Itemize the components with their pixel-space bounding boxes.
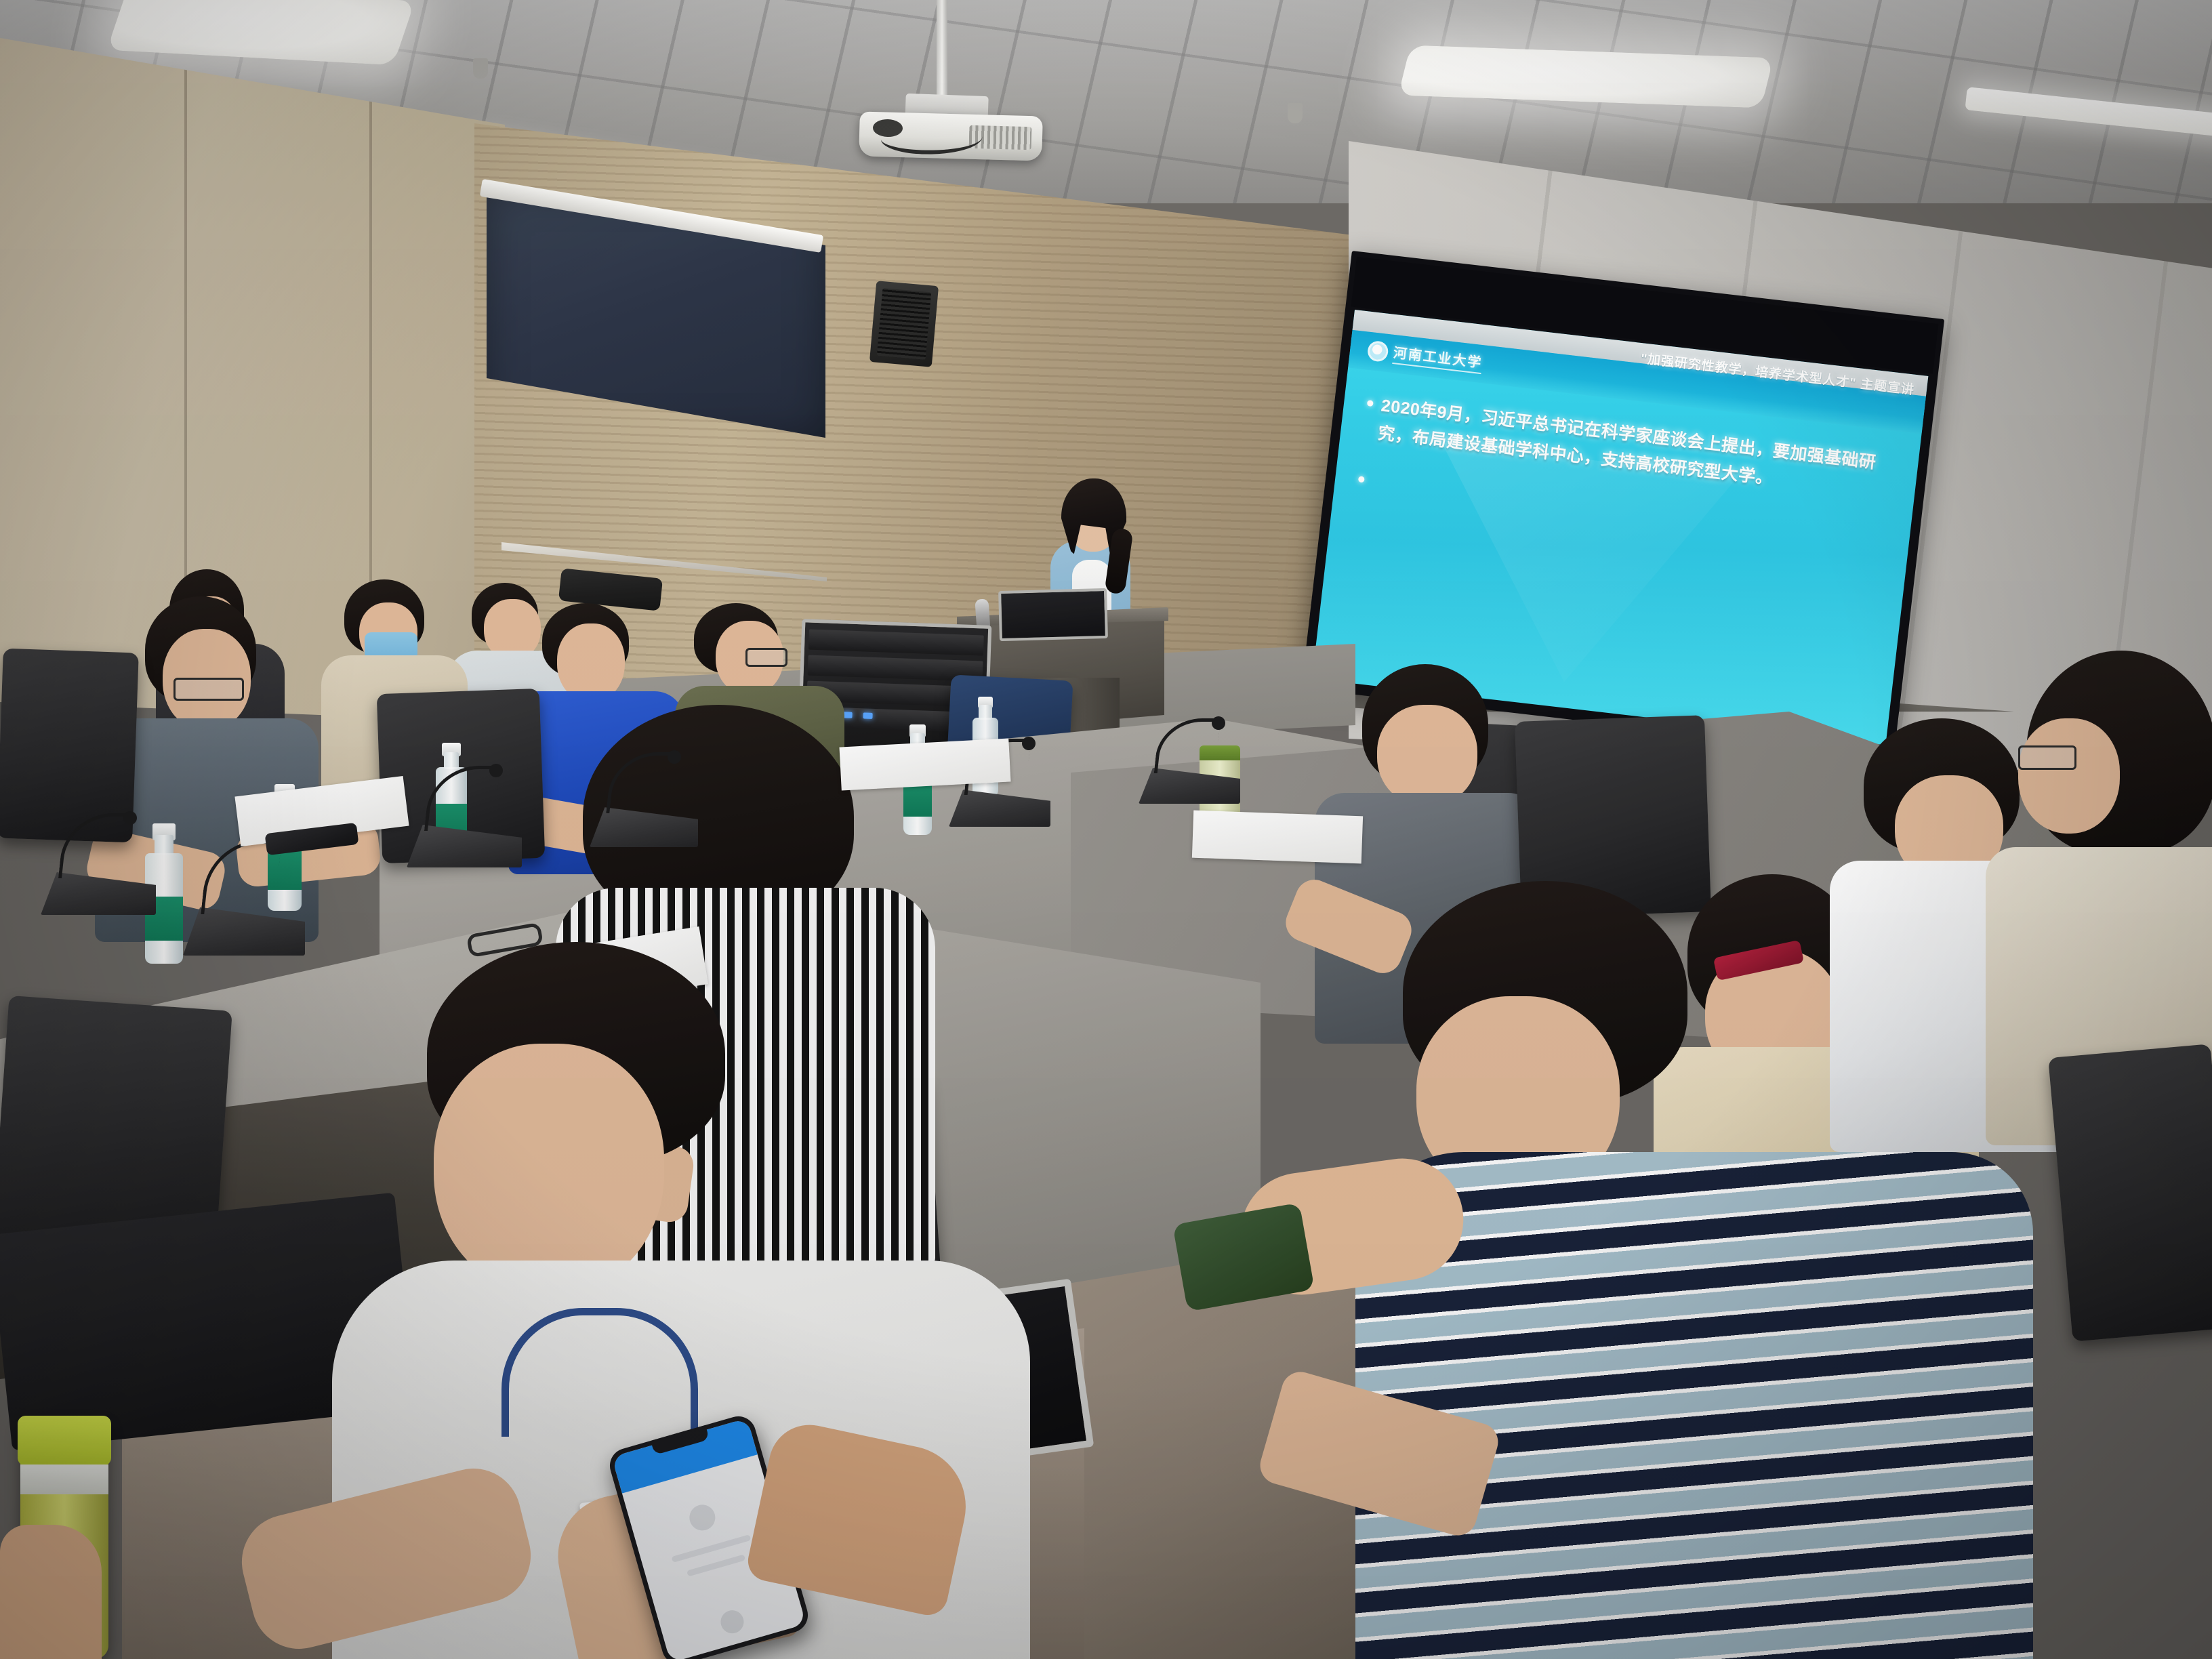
hand-holding-tumbler xyxy=(0,1525,102,1659)
slide-bullet-2-text xyxy=(1372,474,1373,483)
handout-papers-3[interactable] xyxy=(1192,811,1363,864)
eyeglasses xyxy=(173,678,244,701)
conference-microphone-6[interactable] xyxy=(1139,718,1240,804)
presenter-laptop[interactable] xyxy=(998,588,1108,641)
projector-mount-rod xyxy=(937,0,947,100)
conference-microphone-4[interactable] xyxy=(590,752,698,847)
bullet-dot-icon xyxy=(1367,400,1374,407)
tumbler-lid xyxy=(18,1416,111,1466)
attendee-head xyxy=(1377,705,1477,806)
tumbler-collar xyxy=(20,1465,108,1494)
conference-microphone-3[interactable] xyxy=(407,766,522,867)
wall-speaker xyxy=(869,281,939,367)
conference-microphone-1[interactable] xyxy=(183,840,305,956)
conference-room-photo: 河南工业大学 "加强研究性教学，培养学术型人才" 主题宣讲 2020年9月，习近… xyxy=(0,0,2212,1659)
chair-right-far[interactable] xyxy=(2048,1044,2212,1341)
attendee-head xyxy=(557,623,625,702)
sprinkler-head-right xyxy=(1288,103,1303,123)
logo-emblem-icon xyxy=(1367,340,1389,362)
attendee-head xyxy=(2018,718,2120,834)
phone-avatar-icon xyxy=(687,1502,718,1534)
phone-home-icon xyxy=(718,1607,746,1636)
conference-microphone-2[interactable] xyxy=(41,813,156,915)
bullet-dot-icon-2 xyxy=(1358,476,1365,483)
attendee-head xyxy=(434,1044,664,1294)
wall-left-wood-panel xyxy=(0,38,505,729)
lanyard xyxy=(501,1308,698,1437)
eyeglasses xyxy=(745,648,787,667)
eyeglasses xyxy=(2018,745,2076,770)
handout-papers-2[interactable] xyxy=(839,739,1010,791)
sprinkler-head xyxy=(473,58,488,79)
